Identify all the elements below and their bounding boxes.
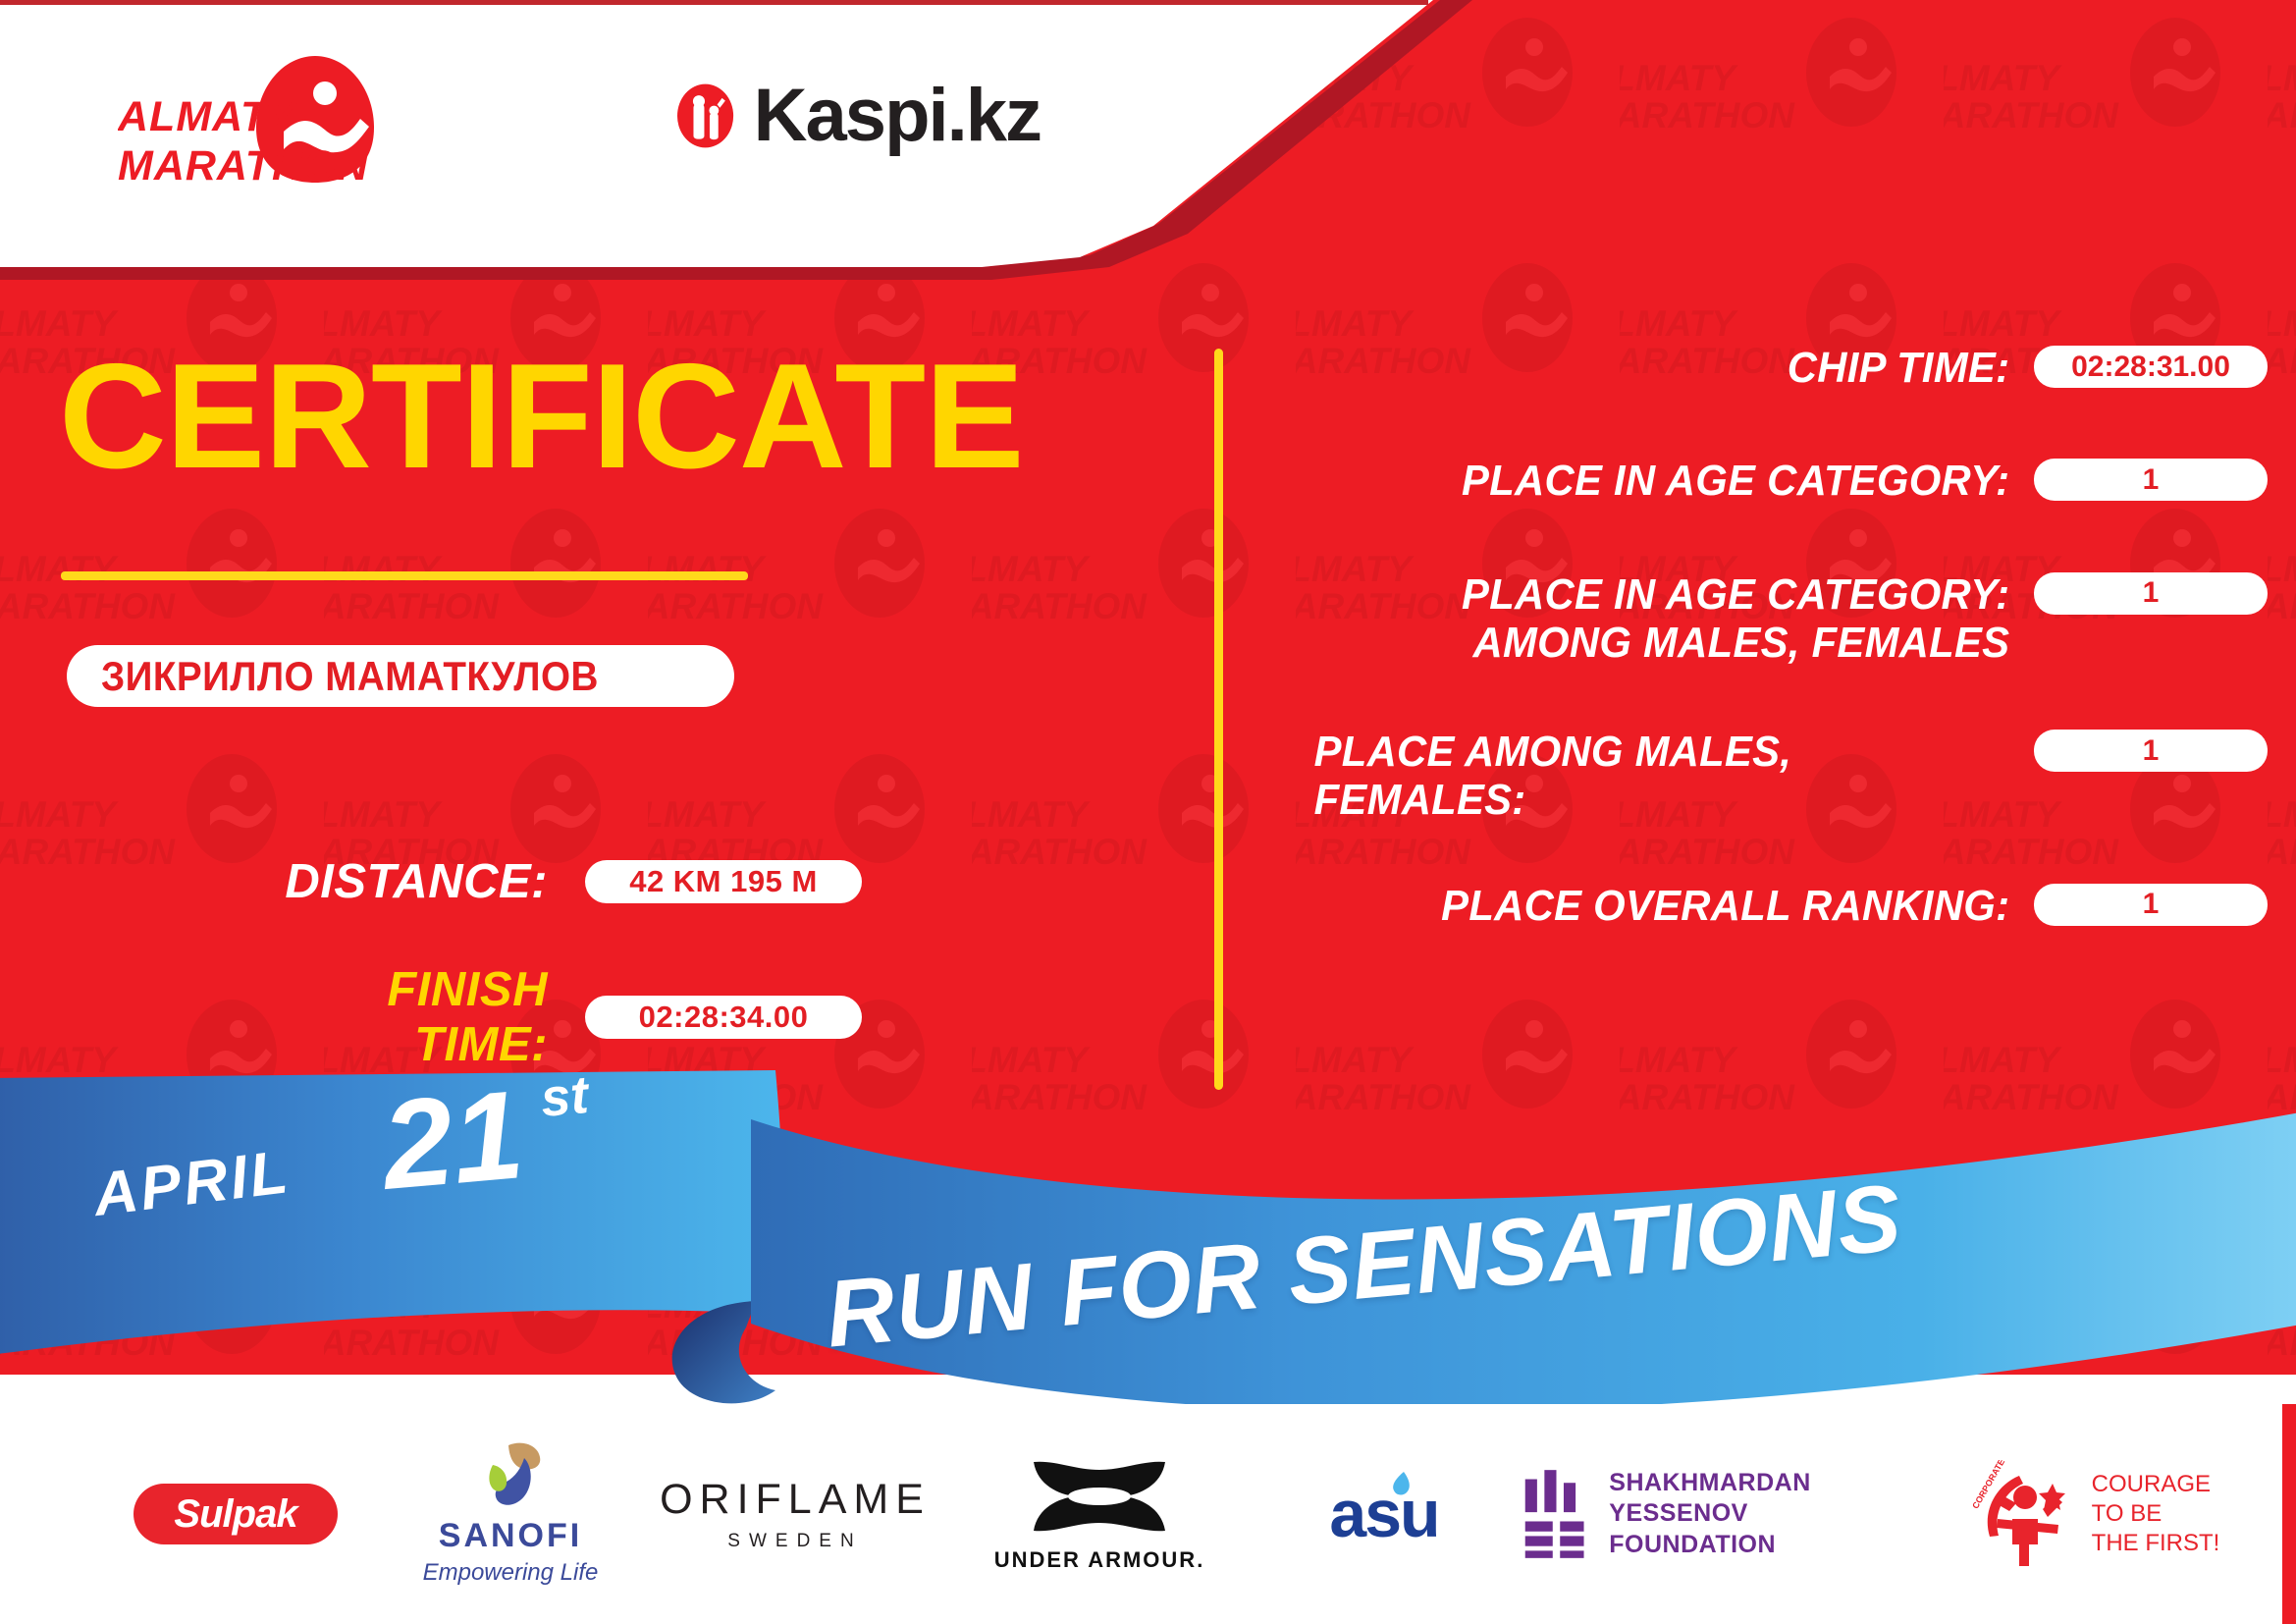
sanofi-wordmark: SANOFI [423, 1517, 599, 1555]
kaspi-wordmark: Kaspi.kz [754, 73, 1041, 158]
row-place-age-category: PLACE IN AGE CATEGORY: 1 [1266, 457, 2268, 505]
row-chip-time: CHIP TIME: 02:28:31.00 [1266, 344, 2268, 392]
header-top-rule [0, 0, 1428, 5]
place-age-category-mf-label-line1: PLACE IN AGE CATEGORY: [1462, 570, 2009, 619]
place-age-category-label: PLACE IN AGE CATEGORY: [1305, 457, 2034, 505]
svg-text:MARATHON: MARATHON [118, 142, 369, 187]
sponsor-sulpak: Sulpak [88, 1435, 383, 1593]
sponsor-bar: Sulpak SANOFI Empowering Life ORIFLAME S… [0, 1404, 2296, 1624]
finish-time-value: 02:28:34.00 [585, 996, 862, 1039]
athlete-name-text: ЗИКРИЛЛО МАМАТКУЛОВ [67, 653, 599, 700]
left-column: CERTIFICATE ЗИКРИЛЛО МАМАТКУЛОВ DISTANCE… [0, 324, 1158, 1070]
sponsor-under-armour: UNDER ARMOUR. [952, 1435, 1247, 1593]
certificate-canvas: ALMATY MARATHON ALMATY MARATHON [0, 0, 2296, 1624]
row-place-age-category-mf: PLACE IN AGE CATEGORY: AMONG MALES, FEMA… [1266, 570, 2268, 668]
place-age-category-mf-label-line2: AMONG MALES, FEMALES [1473, 619, 2010, 667]
courage-child-icon: CORPORATE FUND [1972, 1460, 2082, 1568]
distance-value: 42 KM 195 M [585, 860, 862, 903]
under-armour-icon [1026, 1456, 1173, 1537]
kaspi-people-icon [677, 58, 734, 174]
sanofi-mark-icon [463, 1441, 558, 1512]
courage-wordmark: COURAGE TO BE THE FIRST! [2092, 1470, 2220, 1558]
yessenov-line1: SHAKHMARDAN YESSENOV [1609, 1468, 1934, 1530]
courage-line2: TO BE [2092, 1499, 2220, 1529]
place-among-mf-label: PLACE AMONG MALES, FEMALES: [1305, 728, 2034, 825]
kaspi-logo: Kaspi.kz [677, 54, 1041, 177]
chip-time-value: 02:28:31.00 [2034, 346, 2268, 388]
column-divider [1214, 349, 1223, 1090]
place-age-category-mf-value: 1 [2034, 572, 2268, 615]
distance-label: DISTANCE: [263, 854, 548, 909]
row-place-among-males-females: PLACE AMONG MALES, FEMALES: 1 [1266, 728, 2268, 825]
oriflame-wordmark: ORIFLAME [660, 1476, 931, 1524]
right-edge-accent [2282, 1404, 2296, 1624]
sponsor-oriflame: ORIFLAME SWEDEN [638, 1435, 952, 1593]
svg-text:ALMATY: ALMATY [118, 93, 298, 140]
under-armour-wordmark: UNDER ARMOUR. [994, 1547, 1205, 1573]
oriflame-tagline: SWEDEN [660, 1531, 931, 1552]
finish-time-label: FINISH TIME: [263, 962, 548, 1072]
place-overall-label: PLACE OVERALL RANKING: [1305, 882, 2034, 930]
ribbon-day-suffix: st [538, 1064, 590, 1129]
courage-line1: COURAGE [2092, 1470, 2220, 1499]
yessenov-wordmark: SHAKHMARDAN YESSENOV FOUNDATION [1609, 1468, 1934, 1560]
athlete-name-field: ЗИКРИЛЛО МАМАТКУЛОВ [67, 645, 734, 707]
place-among-mf-label-line2: FEMALES: [1314, 776, 1526, 824]
courage-line3: THE FIRST! [2092, 1529, 2220, 1558]
place-among-mf-label-line1: PLACE AMONG MALES, [1314, 728, 1792, 776]
title-divider [61, 571, 748, 580]
yessenov-line2: FOUNDATION [1609, 1530, 1934, 1560]
sponsor-courage-to-be-first: CORPORATE FUND COURAGE TO BE THE FIRST! [1934, 1435, 2258, 1593]
sanofi-tagline: Empowering Life [423, 1559, 599, 1587]
almaty-marathon-logo: ALMATY MARATHON [118, 54, 442, 187]
asu-droplet-icon [1382, 1470, 1415, 1503]
yessenov-bars-icon [1522, 1467, 1587, 1561]
place-age-category-mf-label: PLACE IN AGE CATEGORY: AMONG MALES, FEMA… [1305, 570, 2034, 668]
row-finish-time: FINISH TIME: 02:28:34.00 [263, 962, 862, 1072]
certificate-title: CERTIFICATE [59, 342, 1024, 491]
place-among-mf-value: 1 [2034, 730, 2268, 772]
ribbon-day: 21 [377, 1062, 529, 1218]
chip-time-label: CHIP TIME: [1305, 344, 2034, 392]
sponsor-sanofi: SANOFI Empowering Life [383, 1435, 638, 1593]
row-distance: DISTANCE: 42 KM 195 M [263, 854, 862, 909]
results-column: CHIP TIME: 02:28:31.00 PLACE IN AGE CATE… [1266, 344, 2268, 930]
place-overall-value: 1 [2034, 884, 2268, 926]
sulpak-logo: Sulpak [133, 1484, 338, 1544]
sponsor-shakhmardan-yessenov: SHAKHMARDAN YESSENOV FOUNDATION [1522, 1435, 1934, 1593]
place-age-category-value: 1 [2034, 459, 2268, 501]
row-place-overall-ranking: PLACE OVERALL RANKING: 1 [1266, 882, 2268, 930]
sponsor-asu: asu [1247, 1435, 1522, 1593]
